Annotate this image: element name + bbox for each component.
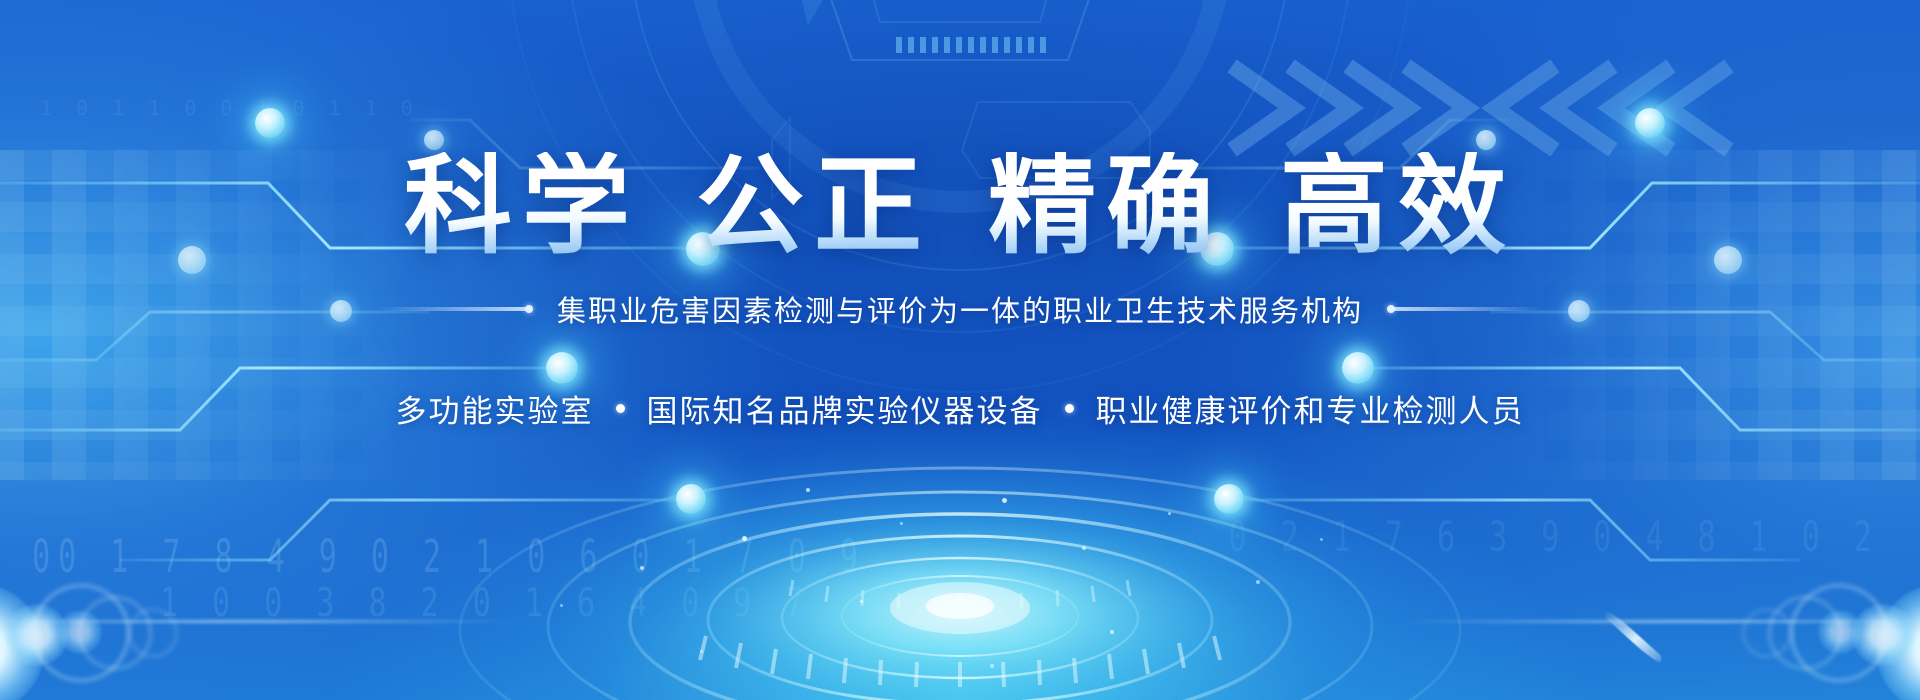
- headline-word-1: 科学: [404, 152, 640, 260]
- decorative-dot-icon: [525, 305, 533, 313]
- decorative-line-right: [1389, 307, 1543, 311]
- page-title: 科学 公正 精确 高效: [404, 152, 1516, 260]
- feature-item-3: 职业健康评价和专业检测人员: [1096, 386, 1525, 431]
- bullet-separator-icon: [616, 404, 625, 413]
- decorative-dot-icon: [1387, 305, 1395, 313]
- feature-item-2: 国际知名品牌实验仪器设备: [647, 386, 1043, 431]
- subtitle-row: 集职业危害因素检测与评价为一体的职业卫生技术服务机构: [377, 288, 1543, 330]
- feature-list: 多功能实验室 国际知名品牌实验仪器设备 职业健康评价和专业检测人员: [396, 386, 1525, 431]
- banner-content: 科学 公正 精确 高效 集职业危害因素检测与评价为一体的职业卫生技术服务机构 多…: [0, 0, 1920, 700]
- feature-item-1: 多功能实验室: [396, 386, 594, 431]
- headline-word-3: 精确: [988, 152, 1224, 260]
- hero-banner: 4 00 1 7 8 4 9 0 2 1 0 6 0 1 7 0 9 1 0 0…: [0, 0, 1920, 700]
- headline-word-4: 高效: [1280, 152, 1516, 260]
- headline-word-2: 公正: [696, 152, 932, 260]
- subtitle-text: 集职业危害因素检测与评价为一体的职业卫生技术服务机构: [557, 288, 1363, 330]
- decorative-line-left: [377, 307, 531, 311]
- bullet-separator-icon: [1065, 404, 1074, 413]
